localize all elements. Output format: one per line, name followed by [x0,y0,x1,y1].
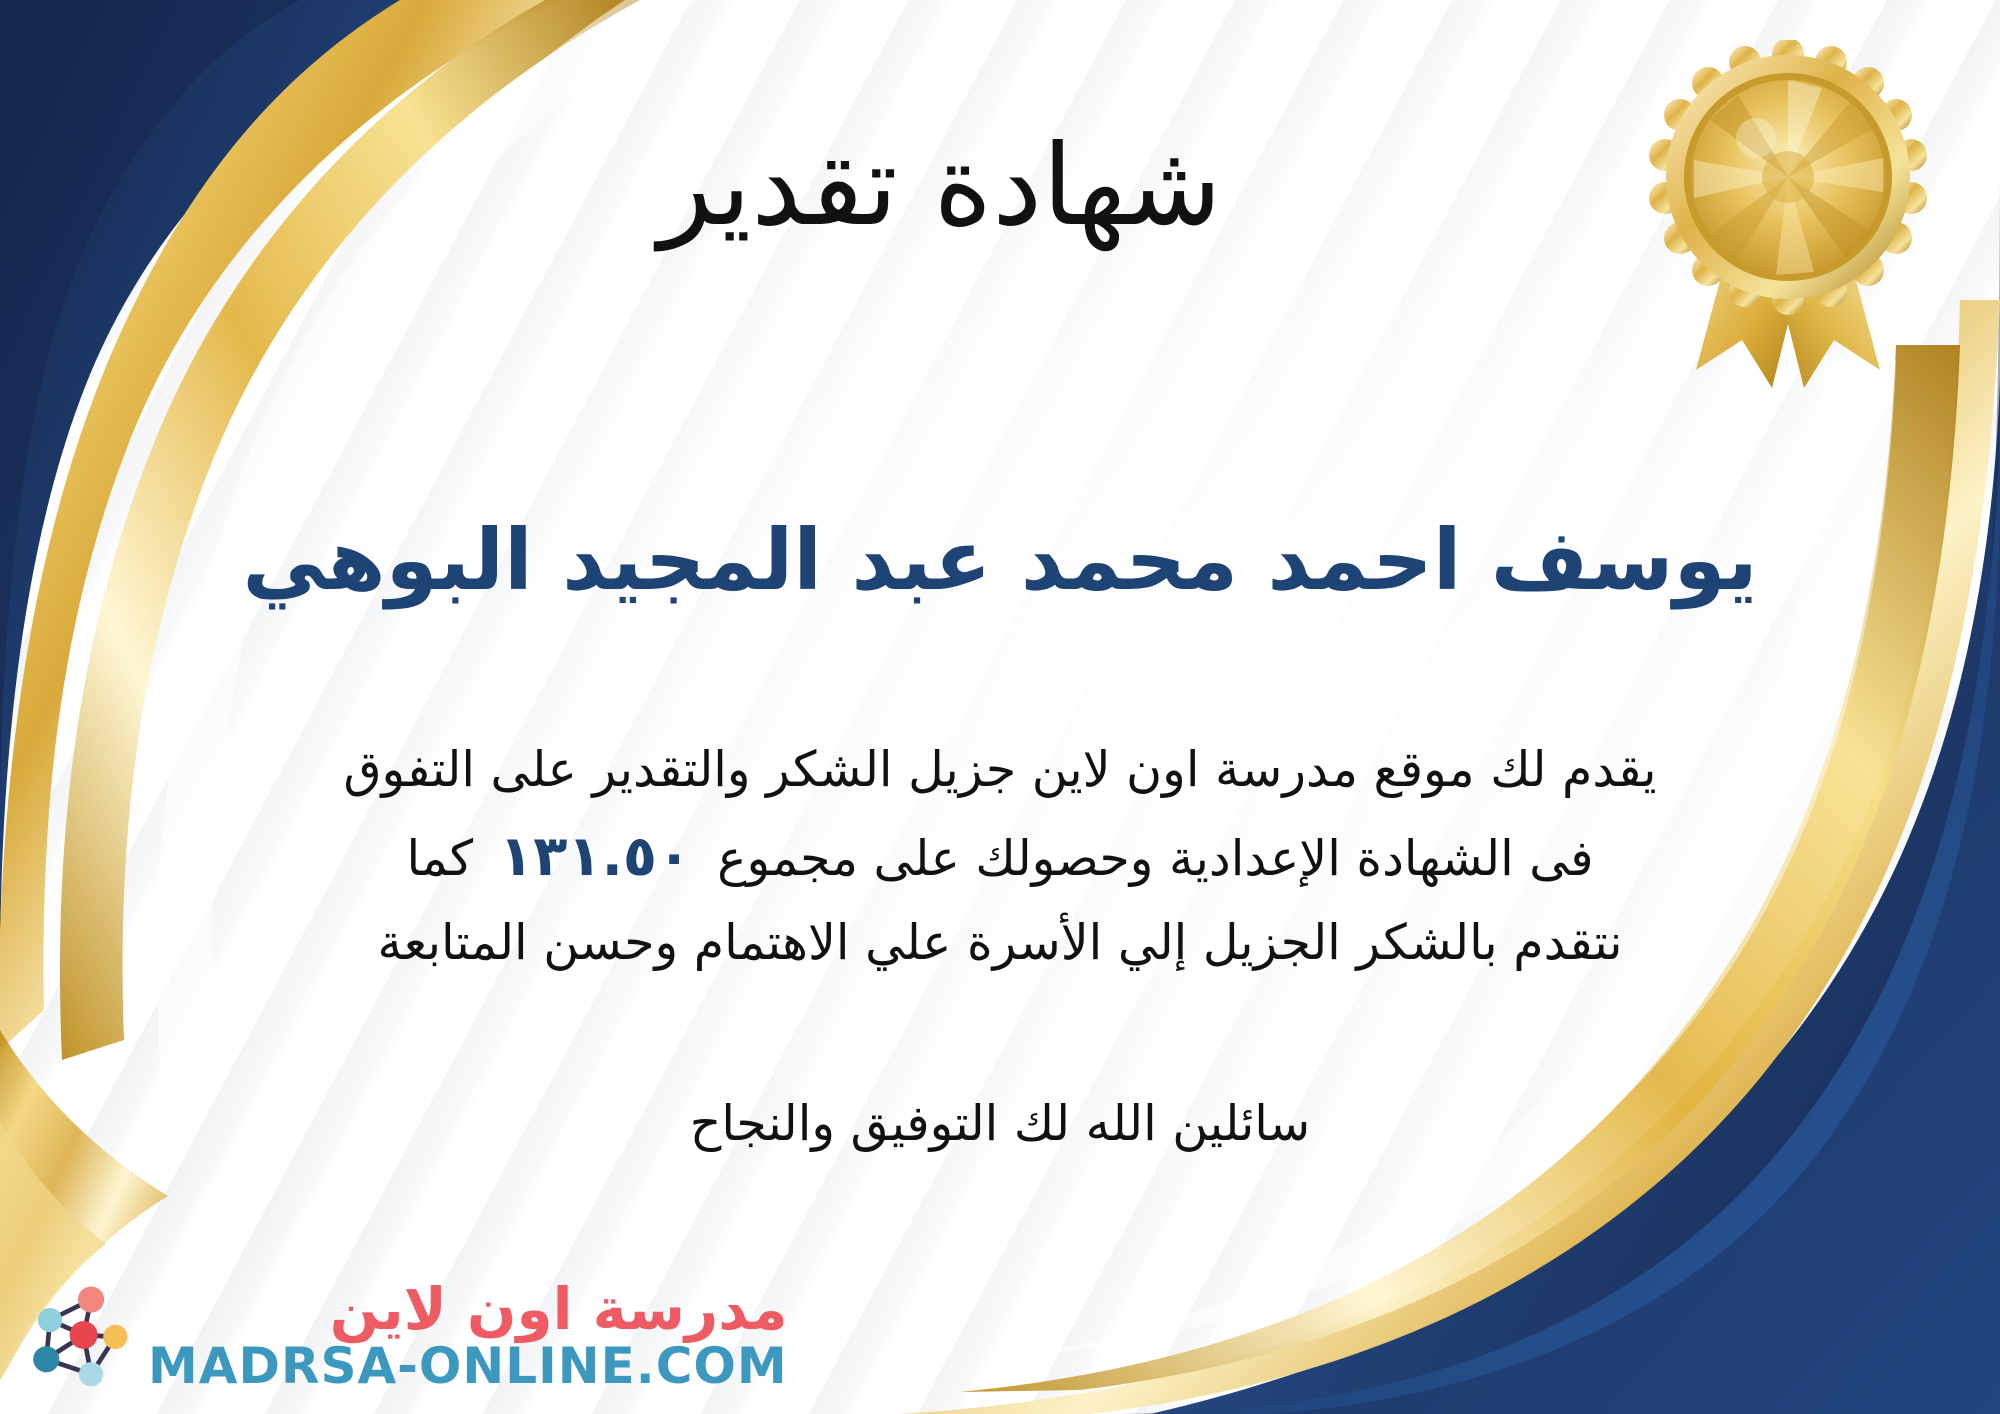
body-line-2-prefix: فى الشهادة الإعدادية وحصولك على مجموع [717,830,1593,887]
brand-website: MADRSA-ONLINE.COM [148,1340,788,1393]
certificate-body: يقدم لك موقع مدرسة اون لاين جزيل الشكر و… [70,730,1930,984]
recipient-name: يوسف احمد محمد عبد المجيد البوهي [0,510,2000,611]
body-line-2-suffix: كما [406,830,473,887]
grade-total-value: ١٣١.٥٠ [473,824,717,889]
network-graph-icon [22,1279,134,1391]
brand-arabic-name: مدرسة اون لاين [330,1279,788,1340]
body-line-3: نتقدم بالشكر الجزيل إلي الأسرة علي الاهت… [70,903,1930,984]
brand-logo[interactable]: مدرسة اون لاين MADRSA-ONLINE.COM [22,1279,788,1392]
closing-line: سائلين الله لك التوفيق والنجاح [0,1095,2000,1152]
certificate-page: شهادة تقدير يوسف احمد محمد عبد المجيد ال… [0,0,2000,1414]
brand-text: مدرسة اون لاين MADRSA-ONLINE.COM [148,1279,788,1392]
gold-award-medal-icon [1638,40,1938,400]
body-line-1: يقدم لك موقع مدرسة اون لاين جزيل الشكر و… [70,730,1930,811]
body-line-2: فى الشهادة الإعدادية وحصولك على مجموع١٣١… [70,811,1930,903]
